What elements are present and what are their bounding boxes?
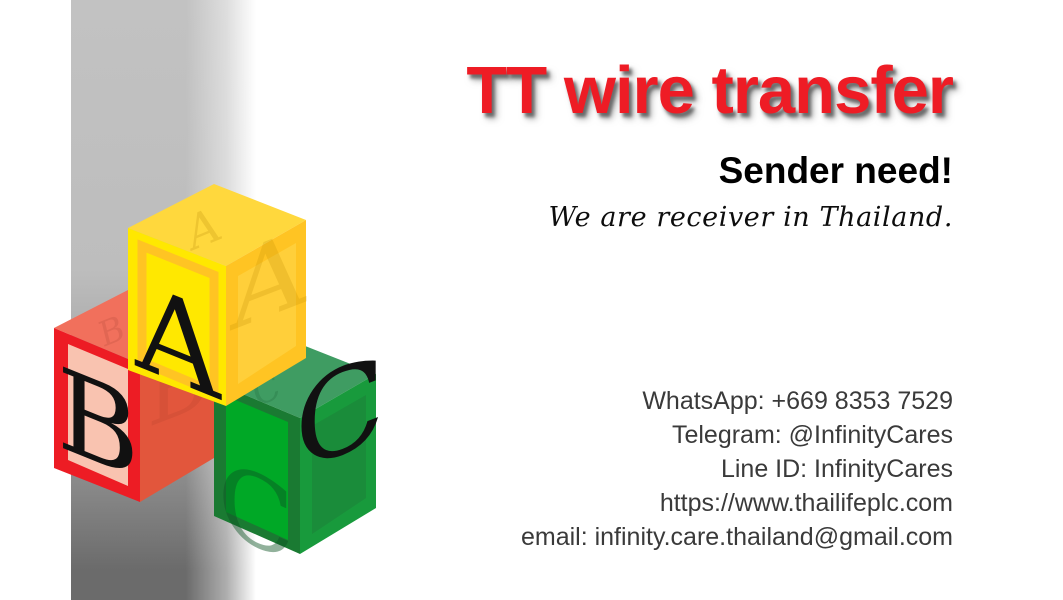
contact-line-telegram[interactable]: Telegram: @InfinityCares [233,418,953,452]
contact-list: WhatsApp: +669 8353 7529 Telegram: @Infi… [233,384,953,554]
contact-line-whatsapp[interactable]: WhatsApp: +669 8353 7529 [233,384,953,418]
poster-canvas: B B B [0,0,1063,600]
subtitle: Sender need! [233,152,953,189]
page-title: TT wire transfer [233,57,953,124]
tagline: We are receiver in Thailand. [233,202,953,233]
contact-line-lineid[interactable]: Line ID: InfinityCares [233,452,953,486]
contact-line-website[interactable]: https://www.thailifeplc.com [233,486,953,520]
contact-line-email[interactable]: email: infinity.care.thailand@gmail.com [233,520,953,554]
